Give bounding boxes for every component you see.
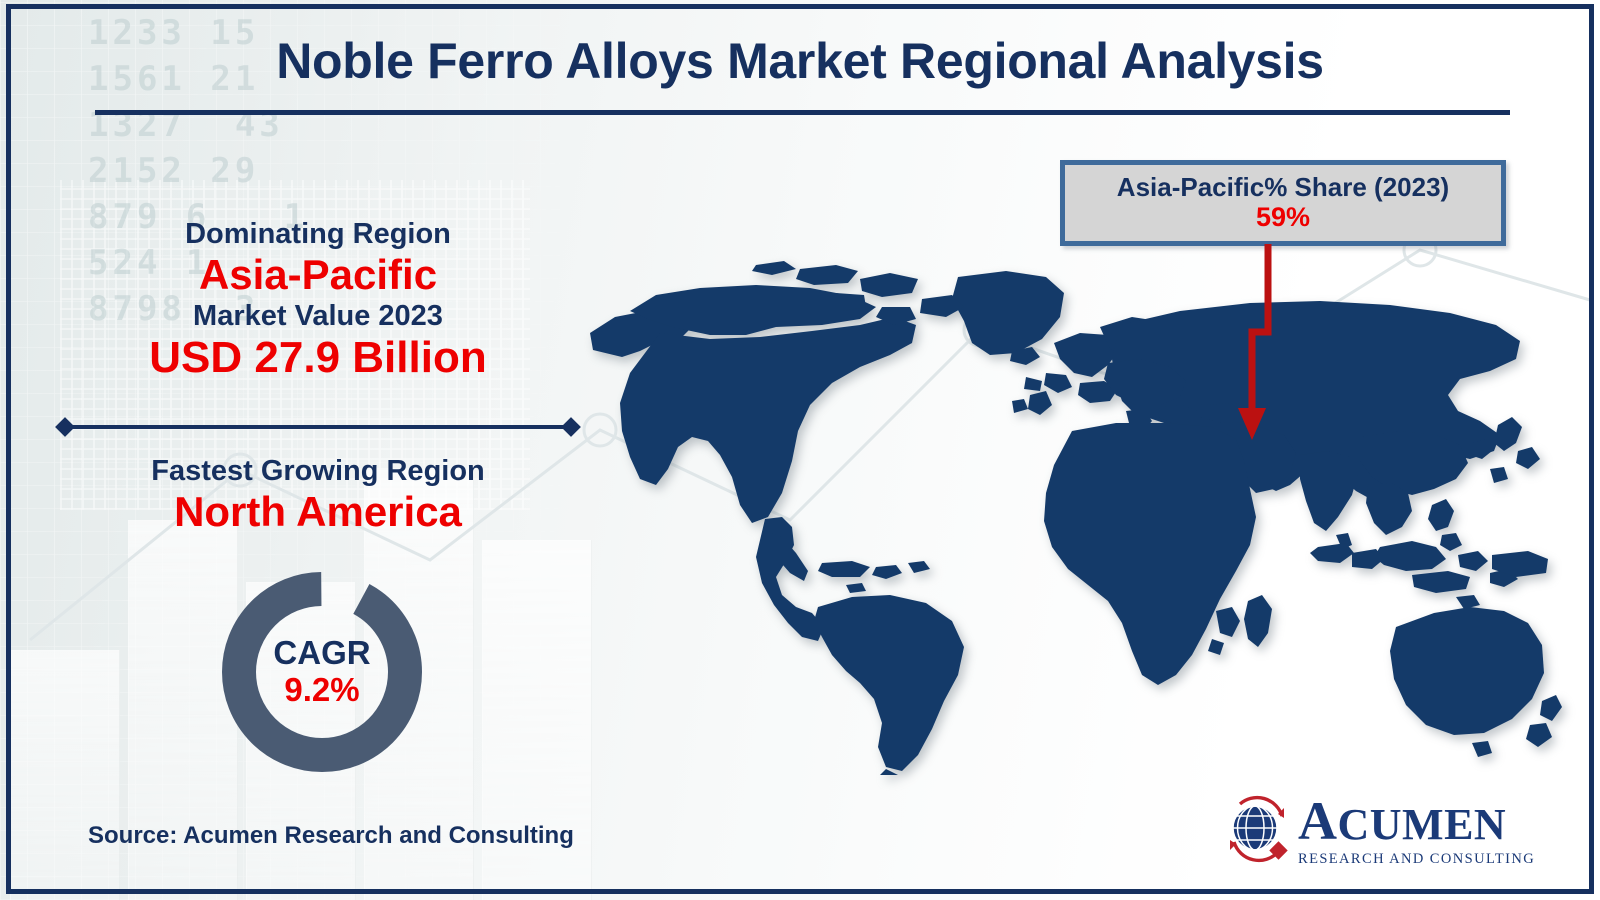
logo-name-cap: A (1298, 791, 1338, 851)
callout-title: Asia-Pacific% Share (2023) (1117, 173, 1449, 202)
market-value-value: USD 27.9 Billion (58, 332, 578, 384)
fastest-growing-label: Fastest Growing Region (58, 455, 578, 487)
cagr-donut-chart: CAGR 9.2% (216, 566, 428, 778)
logo-tagline: RESEARCH AND CONSULTING (1298, 851, 1522, 868)
logo-text: ACUMEN RESEARCH AND CONSULTING (1298, 794, 1522, 868)
left-stats-top: Dominating Region Asia-Pacific Market Va… (58, 218, 578, 384)
cagr-label: CAGR (273, 636, 370, 671)
callout-arrow-icon (1230, 244, 1300, 444)
asia-pacific-share-callout: Asia-Pacific% Share (2023) 59% (1060, 160, 1506, 246)
cagr-value: 9.2% (284, 673, 359, 708)
infographic-canvas: 1233 15 1561 21 1327 43 2152 29 879 6 1 … (0, 0, 1600, 900)
title-underline (95, 110, 1510, 115)
stats-divider (58, 420, 578, 434)
dominating-region-label: Dominating Region (58, 218, 578, 250)
divider-diamond-right-icon (561, 417, 581, 437)
page-title: Noble Ferro Alloys Market Regional Analy… (0, 32, 1600, 90)
donut-center-text: CAGR 9.2% (216, 566, 428, 778)
acumen-logo: ACUMEN RESEARCH AND CONSULTING (1222, 792, 1522, 870)
dominating-region-value: Asia-Pacific (58, 250, 578, 300)
market-value-label: Market Value 2023 (58, 300, 578, 332)
callout-value: 59% (1256, 203, 1310, 233)
left-stats-bottom: Fastest Growing Region North America (58, 455, 578, 537)
logo-name-rest: CUMEN (1338, 800, 1507, 849)
fastest-growing-value: North America (58, 487, 578, 537)
divider-line (67, 425, 569, 429)
world-map (560, 255, 1570, 775)
logo-name: ACUMEN (1298, 794, 1522, 848)
globe-icon (1222, 794, 1294, 866)
source-text: Source: Acumen Research and Consulting (88, 822, 574, 850)
